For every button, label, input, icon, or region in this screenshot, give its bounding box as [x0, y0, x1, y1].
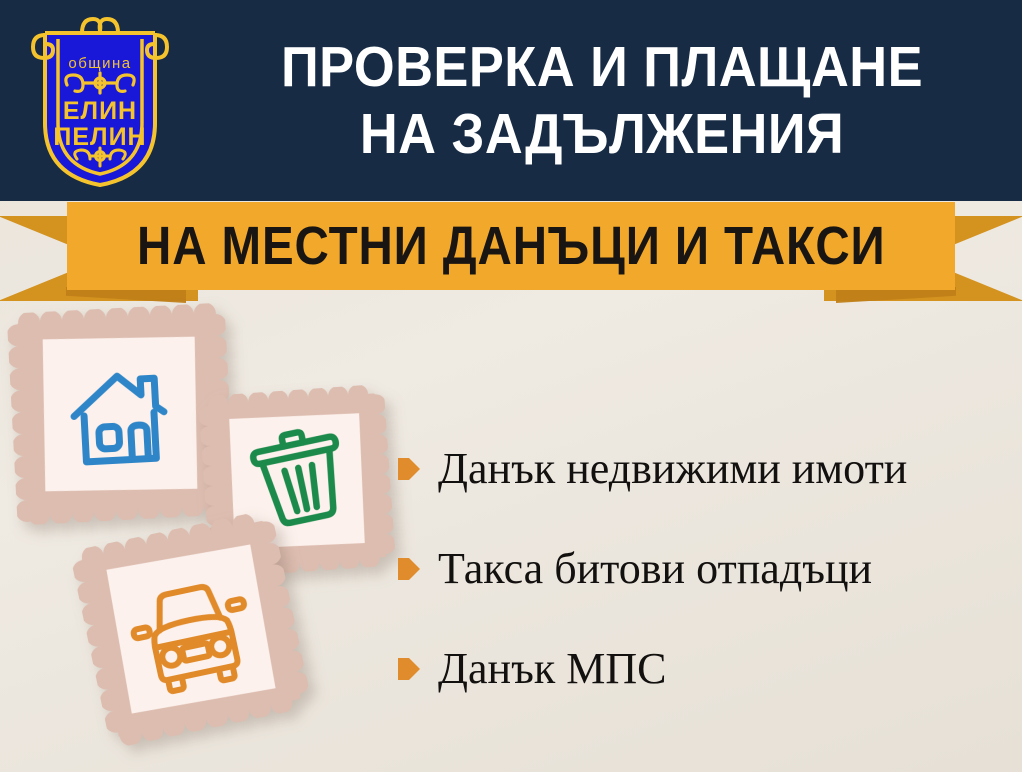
- ribbon-label: НА МЕСТНИ ДАНЪЦИ И ТАКСИ: [137, 215, 886, 277]
- header-band: община ЕЛИН ПЕЛИН: [0, 0, 1022, 201]
- poster-root: община ЕЛИН ПЕЛИН: [0, 0, 1022, 772]
- coat-of-arms-icon: община ЕЛИН ПЕЛИН: [25, 13, 175, 188]
- title-line-2: НА ЗАДЪЛЖЕНИЯ: [232, 106, 972, 163]
- car-front-stamp-icon: [69, 509, 312, 749]
- title-line-1: ПРОВЕРКА И ПЛАЩАНЕ: [232, 39, 972, 96]
- ribbon-face: НА МЕСТНИ ДАНЪЦИ И ТАКСИ: [67, 202, 955, 290]
- municipality-logo: община ЕЛИН ПЕЛИН: [0, 0, 200, 201]
- list-item-label: Такса битови отпадъци: [438, 543, 872, 594]
- svg-text:ЕЛИН: ЕЛИН: [63, 97, 137, 125]
- arrow-pentagon-bullet-icon: [398, 556, 420, 582]
- stamp-card-group: [0, 300, 430, 772]
- list-item-label: Данък недвижими имоти: [438, 443, 907, 494]
- list-item[interactable]: Данък МПС: [398, 618, 1022, 718]
- tax-type-list: Данък недвижими имоти Такса битови отпад…: [398, 418, 1022, 718]
- list-item[interactable]: Данък недвижими имоти: [398, 418, 1022, 518]
- page-title: ПРОВЕРКА И ПЛАЩАНЕ НА ЗАДЪЛЖЕНИЯ: [200, 39, 1022, 163]
- arrow-pentagon-bullet-icon: [398, 656, 420, 682]
- arrow-pentagon-bullet-icon: [398, 456, 420, 482]
- svg-text:община: община: [68, 55, 131, 72]
- list-item-label: Данък МПС: [438, 643, 666, 694]
- stamp-card-vehicle: [69, 509, 312, 749]
- subtitle-ribbon: НА МЕСТНИ ДАНЪЦИ И ТАКСИ: [0, 201, 1022, 311]
- list-item[interactable]: Такса битови отпадъци: [398, 518, 1022, 618]
